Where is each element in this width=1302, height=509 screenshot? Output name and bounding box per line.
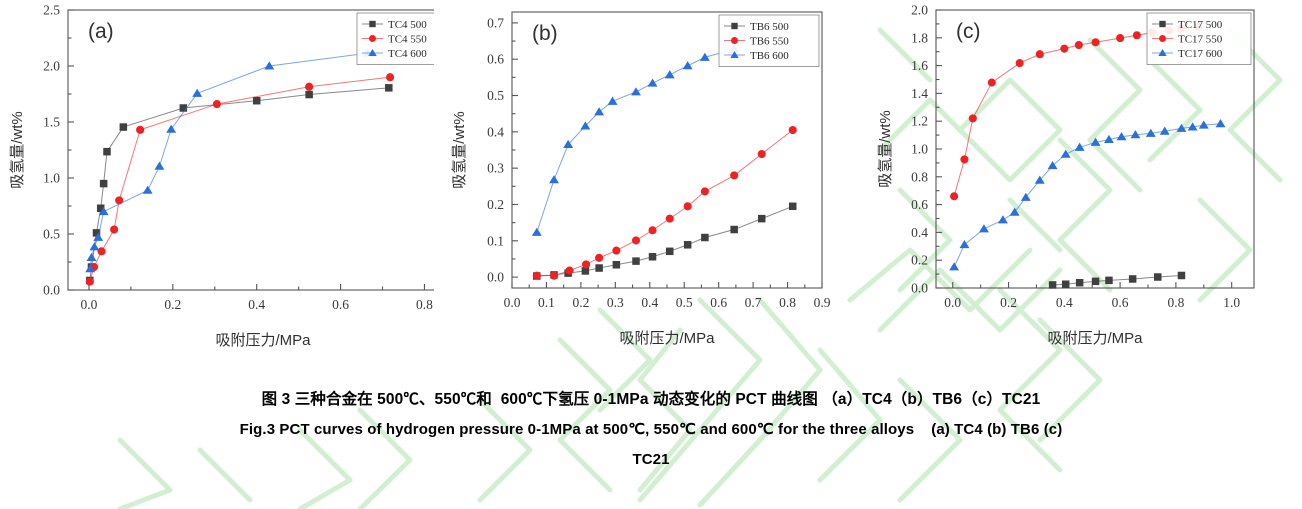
marker-square [1129, 275, 1137, 283]
marker-triangle [631, 87, 641, 95]
marker-triangle [87, 253, 97, 261]
y-tick-label: 2.0 [43, 59, 60, 74]
x-axis-title: 吸附压力/MPa [619, 330, 715, 347]
marker-circle [110, 225, 118, 233]
y-tick-label: 2.5 [43, 3, 60, 18]
marker-circle [950, 192, 958, 200]
marker-circle [789, 126, 797, 134]
y-tick-label: 0.0 [43, 283, 60, 298]
marker-triangle [608, 97, 618, 105]
marker-circle [632, 236, 640, 244]
marker-square [730, 226, 738, 234]
marker-circle [969, 114, 977, 122]
x-tick-label: 0.1 [538, 295, 555, 310]
chart-root: 0.00.20.40.60.80.00.51.01.52.02.5(a)TC4 … [9, 3, 434, 350]
marker-square [649, 253, 657, 261]
marker-triangle [979, 224, 989, 232]
y-tick-label: 0.2 [487, 197, 504, 212]
caption-chinese: 图 3 三种合金在 500℃、550℃和 600℃下氢压 0-1MPa 动态变化… [0, 385, 1302, 415]
marker-triangle [1010, 208, 1020, 216]
marker-triangle [665, 70, 675, 78]
x-tick-label: 0.6 [1112, 295, 1129, 310]
chart-panel-b: 0.00.10.20.30.40.50.60.70.80.90.00.10.20… [434, 0, 868, 375]
pct-chart-a: 0.00.20.40.60.80.00.51.01.52.02.5(a)TC4 … [0, 0, 434, 375]
y-tick-label: 0.5 [487, 88, 504, 103]
legend: TB6 500TB6 550TB6 600 [719, 15, 819, 67]
marker-circle [684, 202, 692, 210]
series-line [90, 88, 389, 281]
series-1 [1049, 272, 1185, 289]
y-tick-label: 0.4 [911, 225, 928, 240]
series-line [90, 77, 390, 281]
marker-square [666, 248, 674, 256]
marker-square [684, 241, 692, 249]
marker-square [100, 180, 108, 188]
series-line [90, 53, 368, 269]
marker-circle [565, 267, 573, 275]
marker-triangle [1021, 193, 1031, 201]
y-axis-title: 吸氢量/wt% [451, 111, 468, 189]
marker-circle [666, 215, 674, 223]
x-tick-label: 0.4 [1056, 295, 1073, 310]
x-tick-label: 0.2 [572, 295, 589, 310]
y-tick-label: 0.6 [911, 197, 928, 212]
x-axis-title: 吸附压力/MPa [1047, 330, 1143, 347]
series-line [1053, 275, 1182, 284]
series-3 [532, 44, 739, 236]
y-tick-label: 0.4 [487, 124, 504, 139]
marker-triangle [166, 125, 176, 133]
series-line [537, 206, 793, 276]
series-1 [86, 84, 393, 284]
marker-circle [612, 247, 620, 255]
chart-root: 0.00.20.40.60.81.00.00.20.40.60.81.01.21… [877, 3, 1254, 348]
x-tick-label: 0.0 [504, 295, 521, 310]
marker-triangle [594, 107, 604, 115]
series-line [537, 49, 734, 232]
marker-circle [730, 171, 738, 179]
marker-circle [1036, 50, 1044, 58]
marker-square [1159, 21, 1165, 27]
y-tick-label: 2.0 [911, 3, 928, 18]
marker-triangle [949, 262, 959, 270]
x-tick-label: 0.3 [607, 295, 624, 310]
y-tick-label: 1.0 [911, 142, 928, 157]
marker-square [1178, 272, 1186, 280]
marker-square [385, 84, 393, 92]
marker-circle [1133, 31, 1141, 39]
marker-circle [213, 100, 221, 108]
series-2 [533, 126, 797, 280]
marker-square [369, 21, 375, 27]
marker-square [253, 97, 260, 105]
marker-triangle [648, 79, 658, 87]
marker-square [1154, 273, 1162, 281]
marker-triangle [154, 162, 164, 170]
marker-triangle [998, 215, 1008, 223]
marker-circle [1060, 45, 1068, 53]
y-tick-label: 0.0 [487, 270, 504, 285]
marker-square [120, 123, 128, 131]
caption-english-line2: TC21 [0, 445, 1302, 475]
pct-chart-c: 0.00.20.40.60.81.00.00.20.40.60.81.01.21… [868, 0, 1302, 375]
marker-circle [731, 37, 738, 44]
marker-square [613, 261, 621, 269]
marker-circle [701, 187, 709, 195]
marker-circle [1159, 35, 1166, 42]
y-tick-label: 1.8 [911, 30, 928, 45]
series-line [537, 130, 793, 276]
legend-label: TC17 550 [1178, 33, 1223, 45]
marker-circle [136, 126, 144, 134]
marker-triangle [192, 89, 202, 97]
marker-square [103, 148, 111, 156]
legend-label: TC17 600 [1178, 48, 1223, 60]
marker-circle [595, 254, 603, 262]
y-tick-label: 1.0 [43, 171, 60, 186]
y-axis-title: 吸氢量/wt% [9, 111, 26, 189]
marker-square [1105, 277, 1113, 285]
marker-circle [758, 150, 766, 158]
marker-square [1092, 278, 1100, 286]
marker-triangle [549, 175, 559, 183]
y-tick-label: 1.5 [43, 115, 60, 130]
marker-square [789, 203, 797, 211]
marker-square [1049, 281, 1057, 289]
legend-label: TC4 600 [388, 48, 427, 60]
marker-circle [86, 278, 94, 286]
marker-square [758, 215, 766, 223]
panel-tag: (c) [956, 20, 981, 43]
marker-circle [988, 79, 996, 87]
legend-label: TB6 550 [750, 35, 789, 47]
series-2 [86, 73, 394, 286]
marker-circle [305, 83, 313, 91]
marker-circle [386, 73, 394, 81]
legend: TC4 500TC4 550TC4 600 [357, 13, 434, 65]
x-tick-label: 0.2 [1000, 295, 1017, 310]
panel-tag: (a) [88, 20, 114, 43]
x-tick-label: 0.9 [814, 295, 831, 310]
marker-square [1076, 279, 1084, 287]
marker-circle [1116, 34, 1124, 42]
marker-circle [648, 226, 656, 234]
x-tick-label: 0.7 [745, 295, 762, 310]
panels-row: 0.00.20.40.60.80.00.51.01.52.02.5(a)TC4 … [0, 0, 1302, 375]
marker-square [731, 23, 737, 29]
marker-triangle [89, 242, 99, 250]
y-tick-label: 0.7 [487, 15, 504, 30]
x-tick-label: 0.0 [81, 297, 98, 312]
legend: TC17 500TC17 550TC17 600 [1147, 13, 1251, 65]
x-tick-label: 0.6 [332, 297, 349, 312]
marker-circle [97, 247, 105, 255]
x-tick-label: 0.8 [1167, 295, 1184, 310]
y-tick-label: 1.2 [911, 114, 928, 129]
marker-triangle [683, 61, 693, 69]
series-3 [949, 119, 1225, 270]
marker-triangle [1061, 150, 1071, 158]
chart-panel-c: 0.00.20.40.60.81.00.00.20.40.60.81.01.21… [868, 0, 1302, 375]
marker-circle [1075, 41, 1083, 49]
marker-square [632, 257, 640, 265]
x-tick-label: 0.8 [416, 297, 433, 312]
y-tick-label: 0.3 [487, 161, 504, 176]
series-line [954, 124, 1220, 267]
marker-circle [1016, 59, 1024, 67]
marker-circle [960, 155, 968, 163]
chart-panel-a: 0.00.20.40.60.80.00.51.01.52.02.5(a)TC4 … [0, 0, 434, 375]
y-tick-label: 0.0 [911, 281, 928, 296]
x-tick-label: 0.2 [164, 297, 181, 312]
figure-caption: 图 3 三种合金在 500℃、550℃和 600℃下氢压 0-1MPa 动态变化… [0, 385, 1302, 475]
marker-square [701, 234, 709, 242]
legend-label: TB6 600 [750, 50, 789, 62]
chart-root: 0.00.10.20.30.40.50.60.70.80.90.00.10.20… [451, 12, 831, 347]
y-tick-label: 0.8 [911, 169, 928, 184]
y-axis-title: 吸氢量/wt% [877, 110, 894, 188]
marker-circle [550, 272, 558, 280]
x-tick-label: 0.4 [641, 295, 658, 310]
y-tick-label: 0.2 [911, 253, 928, 268]
marker-square [305, 91, 313, 99]
legend-label: TB6 500 [750, 21, 789, 33]
x-tick-label: 0.8 [779, 295, 796, 310]
marker-triangle [1216, 119, 1226, 127]
legend-label: TC4 500 [388, 19, 427, 31]
x-axis-title: 吸附压力/MPa [215, 332, 311, 349]
marker-square [180, 104, 188, 112]
marker-triangle [532, 228, 542, 236]
figure-container: 0.00.20.40.60.80.00.51.01.52.02.5(a)TC4 … [0, 0, 1302, 509]
x-tick-label: 0.0 [944, 295, 961, 310]
caption-english-line1: Fig.3 PCT curves of hydrogen pressure 0-… [0, 415, 1302, 445]
marker-triangle [143, 186, 153, 194]
y-tick-label: 0.5 [43, 227, 60, 242]
pct-chart-b: 0.00.10.20.30.40.50.60.70.80.90.00.10.20… [434, 0, 868, 375]
marker-square [595, 264, 603, 272]
legend-label: TC17 500 [1178, 19, 1223, 31]
x-tick-label: 0.6 [710, 295, 727, 310]
marker-circle [1092, 38, 1100, 46]
panel-tag: (b) [532, 22, 558, 45]
marker-circle [533, 272, 541, 280]
legend-label: TC4 550 [388, 33, 427, 45]
y-tick-label: 0.6 [487, 52, 504, 67]
y-tick-label: 1.4 [911, 86, 928, 101]
y-tick-label: 0.1 [487, 233, 504, 248]
series-3 [85, 48, 373, 272]
x-tick-label: 1.0 [1223, 295, 1240, 310]
x-tick-label: 0.5 [676, 295, 693, 310]
x-tick-label: 0.4 [248, 297, 265, 312]
marker-circle [369, 35, 376, 42]
marker-square [1062, 280, 1070, 288]
marker-circle [582, 260, 590, 268]
y-tick-label: 1.6 [911, 58, 928, 73]
